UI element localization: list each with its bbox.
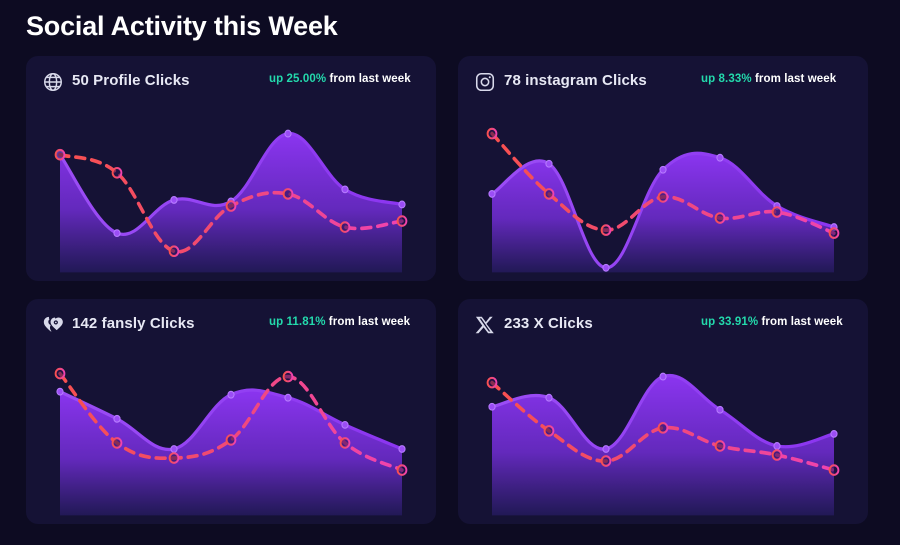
area-fill xyxy=(60,390,402,515)
comparison-point xyxy=(773,450,782,460)
comparison-point xyxy=(659,192,668,202)
delta-caption: from last week xyxy=(326,316,411,328)
comparison-point xyxy=(545,189,554,199)
delta-badge: up 8.33% from last week xyxy=(701,73,836,85)
stat-card-profile[interactable]: 50 Profile Clicksup 25.00% from last wee… xyxy=(26,56,436,281)
card-header: 142 fansly Clicksup 11.81% from last wee… xyxy=(26,299,436,345)
chart-container xyxy=(458,102,868,281)
comparison-point xyxy=(170,453,179,463)
area-point xyxy=(399,446,405,453)
delta-caption: from last week xyxy=(758,316,843,328)
area-point xyxy=(660,373,666,380)
area-point xyxy=(489,191,495,198)
card-title: 50 Profile Clicks xyxy=(72,70,190,91)
card-header: 50 Profile Clicksup 25.00% from last wee… xyxy=(26,56,436,102)
card-header: 78 instagram Clicksup 8.33% from last we… xyxy=(458,56,868,102)
card-title-group: 142 fansly Clicks xyxy=(42,313,195,336)
stat-card-x[interactable]: 233 X Clicksup 33.91% from last week xyxy=(458,299,868,524)
delta-value: up 8.33% xyxy=(701,73,752,85)
sparkline-chart xyxy=(26,102,436,281)
area-point xyxy=(660,166,666,173)
comparison-point xyxy=(488,378,497,388)
comparison-point xyxy=(284,189,293,199)
delta-caption: from last week xyxy=(326,73,411,85)
area-point xyxy=(114,230,120,237)
delta-badge: up 33.91% from last week xyxy=(701,316,843,328)
area-point xyxy=(489,403,495,410)
page-title: Social Activity this Week xyxy=(26,11,338,42)
comparison-point xyxy=(113,168,122,178)
comparison-point xyxy=(716,213,725,223)
globe-icon xyxy=(42,71,64,93)
card-header: 233 X Clicksup 33.91% from last week xyxy=(458,299,868,345)
chart-container xyxy=(458,345,868,524)
comparison-point xyxy=(56,369,65,379)
comparison-point xyxy=(398,216,407,226)
comparison-point xyxy=(488,129,497,139)
area-point xyxy=(228,391,234,398)
delta-caption: from last week xyxy=(752,73,837,85)
area-point xyxy=(546,394,552,401)
comparison-point xyxy=(830,465,839,475)
chart-container xyxy=(26,345,436,524)
dashboard-page: Social Activity this Week 50 Profile Cli… xyxy=(0,0,900,545)
card-title: 233 X Clicks xyxy=(504,313,593,334)
area-point xyxy=(831,431,837,438)
sparkline-chart xyxy=(458,102,868,281)
comparison-point xyxy=(773,207,782,217)
card-title-group: 50 Profile Clicks xyxy=(42,70,190,93)
area-point xyxy=(717,154,723,161)
delta-badge: up 25.00% from last week xyxy=(269,73,411,85)
card-title: 78 instagram Clicks xyxy=(504,70,647,91)
area-point xyxy=(546,160,552,167)
area-point xyxy=(774,443,780,450)
comparison-point xyxy=(398,465,407,475)
area-point xyxy=(171,446,177,453)
comparison-point xyxy=(113,438,122,448)
delta-value: up 25.00% xyxy=(269,73,326,85)
sparkline-chart xyxy=(458,345,868,524)
comparison-point xyxy=(716,441,725,451)
card-title: 142 fansly Clicks xyxy=(72,313,195,334)
instagram-icon xyxy=(474,71,496,93)
card-title-group: 233 X Clicks xyxy=(474,313,593,336)
area-point xyxy=(171,197,177,204)
area-point xyxy=(342,421,348,428)
comparison-point xyxy=(341,222,350,232)
area-point xyxy=(717,406,723,413)
chart-container xyxy=(26,102,436,281)
x-icon xyxy=(474,314,496,336)
comparison-point xyxy=(170,246,179,256)
comparison-point xyxy=(284,372,293,382)
area-point xyxy=(399,201,405,208)
stats-card-grid: 50 Profile Clicksup 25.00% from last wee… xyxy=(26,56,874,526)
area-point xyxy=(603,264,609,271)
area-point xyxy=(603,446,609,453)
area-point xyxy=(57,388,63,395)
fansly-icon xyxy=(42,314,64,336)
delta-value: up 11.81% xyxy=(269,316,326,328)
stat-card-instagram[interactable]: 78 instagram Clicksup 8.33% from last we… xyxy=(458,56,868,281)
comparison-point xyxy=(602,225,611,235)
card-title-group: 78 instagram Clicks xyxy=(474,70,647,93)
comparison-point xyxy=(56,150,65,160)
comparison-point xyxy=(830,228,839,238)
area-point xyxy=(114,415,120,422)
area-point xyxy=(285,394,291,401)
sparkline-chart xyxy=(26,345,436,524)
comparison-point xyxy=(227,435,236,445)
delta-badge: up 11.81% from last week xyxy=(269,316,410,328)
stat-card-fansly[interactable]: 142 fansly Clicksup 11.81% from last wee… xyxy=(26,299,436,524)
comparison-point xyxy=(602,456,611,466)
comparison-point xyxy=(227,201,236,211)
comparison-point xyxy=(659,423,668,433)
delta-value: up 33.91% xyxy=(701,316,758,328)
comparison-point xyxy=(341,438,350,448)
comparison-point xyxy=(545,426,554,436)
area-point xyxy=(285,130,291,137)
area-point xyxy=(342,186,348,193)
